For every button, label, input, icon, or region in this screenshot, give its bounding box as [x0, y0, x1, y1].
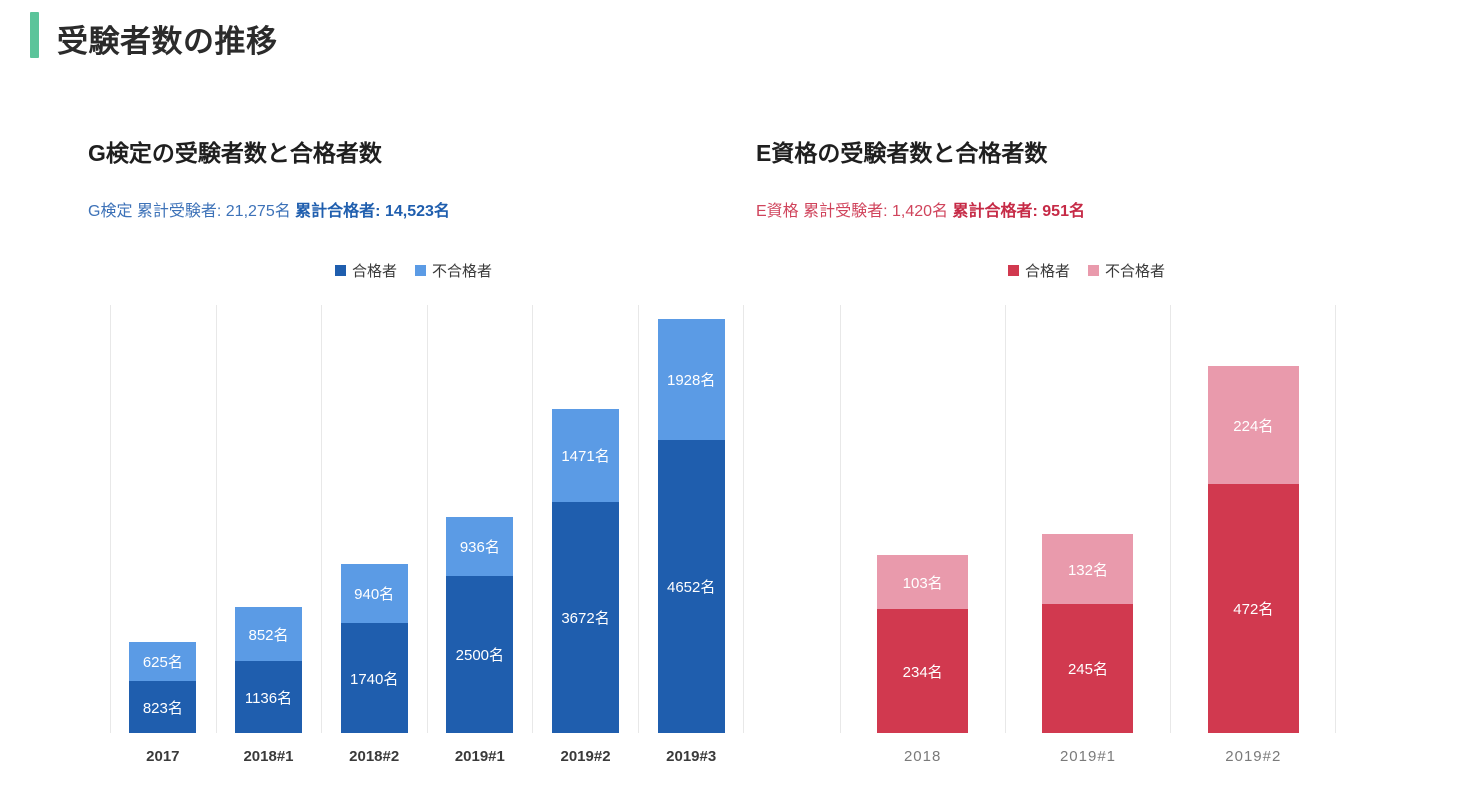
bar-slot: 1471名3672名: [533, 305, 639, 733]
xaxis-tick: 2018#2: [321, 733, 427, 779]
bar-segment-pass[interactable]: 4652名: [658, 440, 725, 733]
chart-title-e-shikaku: E資格の受験者数と合格者数: [756, 134, 1047, 168]
bar-segment-fail[interactable]: 1928名: [658, 319, 725, 440]
stacked-bar[interactable]: 625名823名: [129, 642, 196, 733]
bar-segment-pass[interactable]: 234名: [877, 609, 968, 733]
chart-panel-e-shikaku: E資格の受験者数と合格者数 E資格 累計受験者: 1,420名 累計合格者: 9…: [730, 78, 1468, 790]
bar-slot: 936名2500名: [427, 305, 533, 733]
xaxis-tick-label: 2019#3: [666, 748, 716, 765]
chart-legend-g-kentei: 合格者 不合格者: [335, 260, 492, 281]
legend-label-fail-g: 不合格者: [432, 260, 492, 281]
legend-item-pass-e[interactable]: 合格者: [1008, 260, 1070, 281]
legend-item-fail-g[interactable]: 不合格者: [415, 260, 492, 281]
bar-value-label: 1928名: [667, 369, 715, 390]
xaxis-tick: 2017: [110, 733, 216, 779]
legend-swatch-fail-g-icon: [415, 265, 426, 276]
bar-value-label: 1136名: [245, 687, 292, 708]
summary-strong-e: 累計合格者: 951名: [953, 203, 1085, 220]
chart-panel-g-kentei: G検定の受験者数と合格者数 G検定 累計受験者: 21,275名 累計合格者: …: [0, 78, 760, 790]
bar-slot: 852名1136名: [216, 305, 322, 733]
bar-segment-pass[interactable]: 245名: [1042, 604, 1133, 733]
xaxis-tick: 2019#3: [638, 733, 744, 779]
legend-swatch-pass-g-icon: [335, 265, 346, 276]
stacked-bar[interactable]: 132名245名: [1042, 534, 1133, 733]
stacked-bar[interactable]: 1471名3672名: [552, 409, 619, 733]
stacked-bar[interactable]: 936名2500名: [446, 517, 513, 733]
summary-prefix-g: G検定 累計受験者: 21,275名: [88, 203, 295, 220]
chart-summary-g-kentei: G検定 累計受験者: 21,275名 累計合格者: 14,523名: [88, 197, 450, 221]
bar-slot: 224名472名: [1171, 305, 1336, 733]
bar-segment-pass[interactable]: 1740名: [341, 623, 408, 733]
bar-segment-pass[interactable]: 472名: [1208, 484, 1299, 733]
page-title: 受験者数の推移: [57, 16, 278, 61]
xaxis-tick-label: 2019#2: [560, 748, 610, 765]
legend-label-pass-g: 合格者: [352, 260, 397, 281]
legend-swatch-pass-e-icon: [1008, 265, 1019, 276]
chart-plot-e-shikaku: 103名234名132名245名224名472名 20182019#12019#…: [840, 305, 1336, 733]
legend-swatch-fail-e-icon: [1088, 265, 1099, 276]
bar-value-label: 2500名: [456, 644, 504, 665]
xaxis-tick-label: 2018#2: [349, 748, 399, 765]
bar-slot: 132名245名: [1005, 305, 1170, 733]
bar-value-label: 625名: [143, 651, 183, 672]
bar-segment-pass[interactable]: 3672名: [552, 502, 619, 733]
bar-value-label: 4652名: [667, 576, 715, 597]
chart-xaxis-e: 20182019#12019#2: [840, 733, 1336, 779]
bar-slot: 625名823名: [110, 305, 216, 733]
stacked-bar[interactable]: 1928名4652名: [658, 319, 725, 733]
chart-plot-g-kentei: 625名823名852名1136名940名1740名936名2500名1471名…: [110, 305, 744, 733]
bar-segment-fail[interactable]: 132名: [1042, 534, 1133, 604]
legend-item-fail-e[interactable]: 不合格者: [1088, 260, 1165, 281]
chart-legend-e-shikaku: 合格者 不合格者: [1008, 260, 1165, 281]
bar-value-label: 245名: [1068, 658, 1108, 679]
xaxis-tick-label: 2019#1: [1060, 748, 1116, 765]
xaxis-tick: 2018#1: [216, 733, 322, 779]
xaxis-tick: 2019#2: [533, 733, 639, 779]
bar-segment-fail[interactable]: 940名: [341, 564, 408, 623]
bar-segment-fail[interactable]: 625名: [129, 642, 196, 681]
bar-value-label: 132名: [1068, 559, 1108, 580]
xaxis-tick-label: 2019#1: [455, 748, 505, 765]
bar-value-label: 1740名: [350, 668, 398, 689]
bar-value-label: 224名: [1233, 415, 1273, 436]
legend-item-pass-g[interactable]: 合格者: [335, 260, 397, 281]
xaxis-tick: 2019#1: [427, 733, 533, 779]
stacked-bar[interactable]: 224名472名: [1208, 366, 1299, 733]
xaxis-tick: 2018: [840, 733, 1005, 779]
summary-strong-g: 累計合格者: 14,523名: [295, 203, 450, 220]
chart-bars-e: 103名234名132名245名224名472名: [840, 305, 1336, 733]
chart-summary-e-shikaku: E資格 累計受験者: 1,420名 累計合格者: 951名: [756, 197, 1085, 221]
stacked-bar[interactable]: 103名234名: [877, 555, 968, 733]
chart-title-g-kentei: G検定の受験者数と合格者数: [88, 134, 382, 168]
legend-label-pass-e: 合格者: [1025, 260, 1070, 281]
title-accent-bar: [30, 12, 39, 58]
bar-value-label: 472名: [1233, 598, 1273, 619]
bar-value-label: 940名: [354, 583, 394, 604]
bar-value-label: 1471名: [561, 445, 609, 466]
bar-value-label: 936名: [460, 536, 500, 557]
bar-segment-fail[interactable]: 1471名: [552, 409, 619, 502]
bar-segment-pass[interactable]: 823名: [129, 681, 196, 733]
legend-label-fail-e: 不合格者: [1105, 260, 1165, 281]
xaxis-tick-label: 2017: [146, 748, 179, 765]
bar-slot: 103名234名: [840, 305, 1005, 733]
bar-segment-fail[interactable]: 936名: [446, 517, 513, 576]
bar-segment-fail[interactable]: 852名: [235, 607, 302, 661]
xaxis-tick-label: 2018: [904, 748, 941, 765]
xaxis-tick: 2019#1: [1005, 733, 1170, 779]
bar-value-label: 823名: [143, 697, 183, 718]
bar-value-label: 3672名: [561, 607, 609, 628]
bar-slot: 940名1740名: [321, 305, 427, 733]
stacked-bar[interactable]: 852名1136名: [235, 607, 302, 733]
bar-value-label: 852名: [248, 624, 288, 645]
chart-bars-g: 625名823名852名1136名940名1740名936名2500名1471名…: [110, 305, 744, 733]
page-header: 受験者数の推移: [0, 0, 1468, 78]
bar-segment-pass[interactable]: 2500名: [446, 576, 513, 733]
chart-xaxis-g: 20172018#12018#22019#12019#22019#3: [110, 733, 744, 779]
bar-segment-fail[interactable]: 224名: [1208, 366, 1299, 484]
bar-segment-fail[interactable]: 103名: [877, 555, 968, 609]
bar-value-label: 103名: [903, 572, 943, 593]
xaxis-tick-label: 2019#2: [1225, 748, 1281, 765]
summary-prefix-e: E資格 累計受験者: 1,420名: [756, 203, 953, 220]
xaxis-tick-label: 2018#1: [243, 748, 293, 765]
stacked-bar[interactable]: 940名1740名: [341, 564, 408, 733]
xaxis-tick: 2019#2: [1171, 733, 1336, 779]
bar-slot: 1928名4652名: [638, 305, 744, 733]
bar-value-label: 234名: [903, 661, 943, 682]
bar-segment-pass[interactable]: 1136名: [235, 661, 302, 733]
